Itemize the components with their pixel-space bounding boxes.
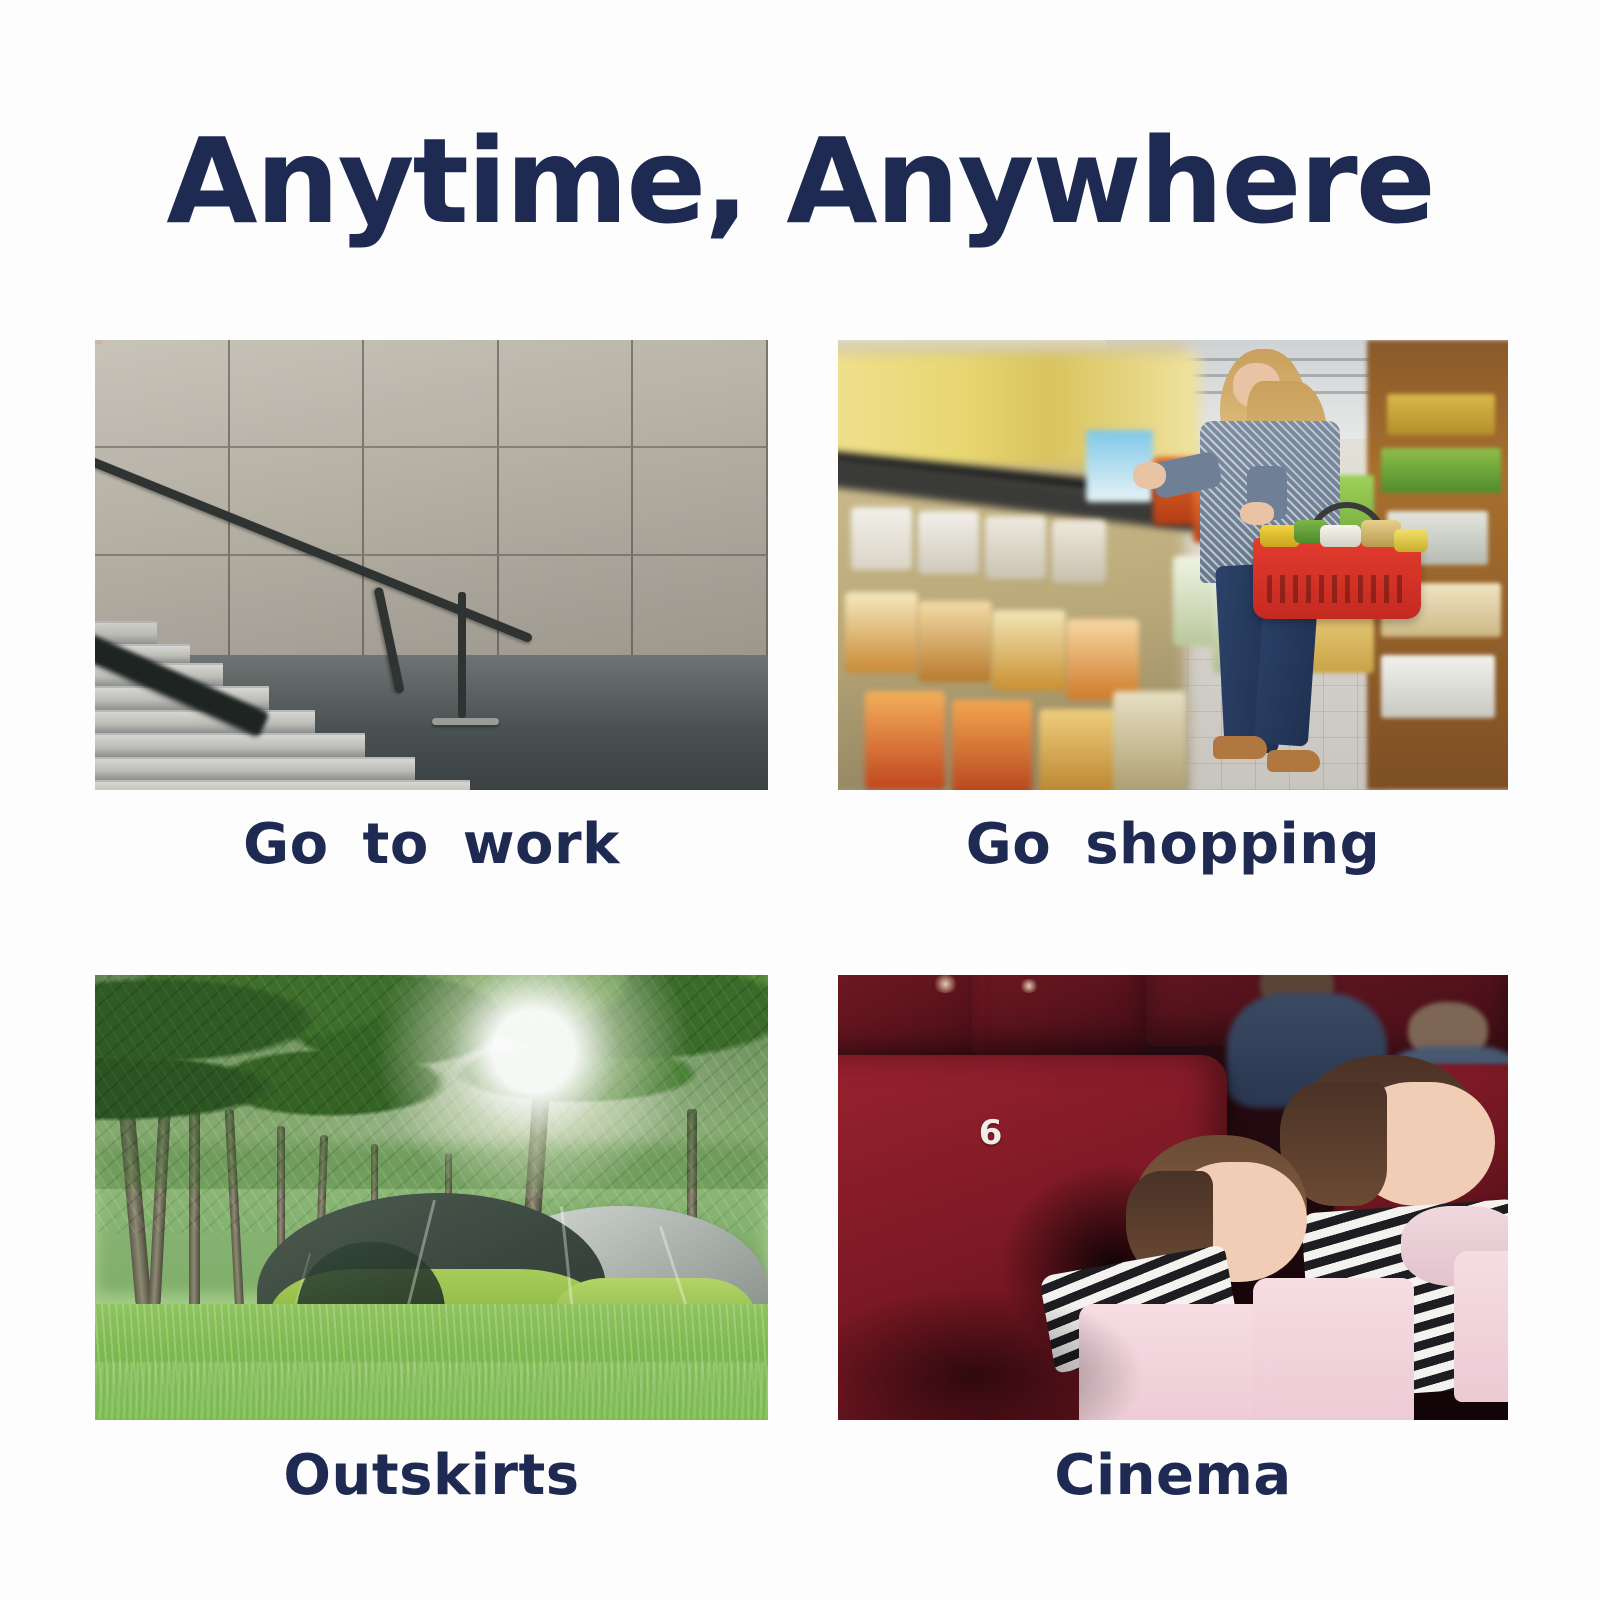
handrail-base [432,718,499,725]
photo-outskirts [95,975,768,1420]
caption-outskirts: Outskirts [55,1443,808,1508]
page-title: Anytime, Anywhere [0,122,1600,240]
caption-go-to-work: Go to work [55,812,808,877]
grid-cell-shopping[interactable]: Go shopping [838,340,1508,790]
grid-cell-outskirts[interactable]: Outskirts [95,975,768,1420]
grid-cell-work[interactable]: Go to work [95,340,768,790]
caption-go-shopping: Go shopping [798,812,1548,877]
seat-number-6: 6 [979,1113,1003,1153]
photo-cinema: 8 6 [838,975,1508,1420]
handrail-post [458,592,466,718]
sun-glow [364,975,741,1198]
promo-poster: Anytime, Anywhere [0,0,1600,1600]
grid-cell-cinema[interactable]: 8 6 [838,975,1508,1420]
photo-go-to-work [95,340,768,790]
grass-foreground [95,1362,768,1420]
photo-go-shopping [838,340,1508,790]
caption-cinema: Cinema [798,1443,1548,1508]
